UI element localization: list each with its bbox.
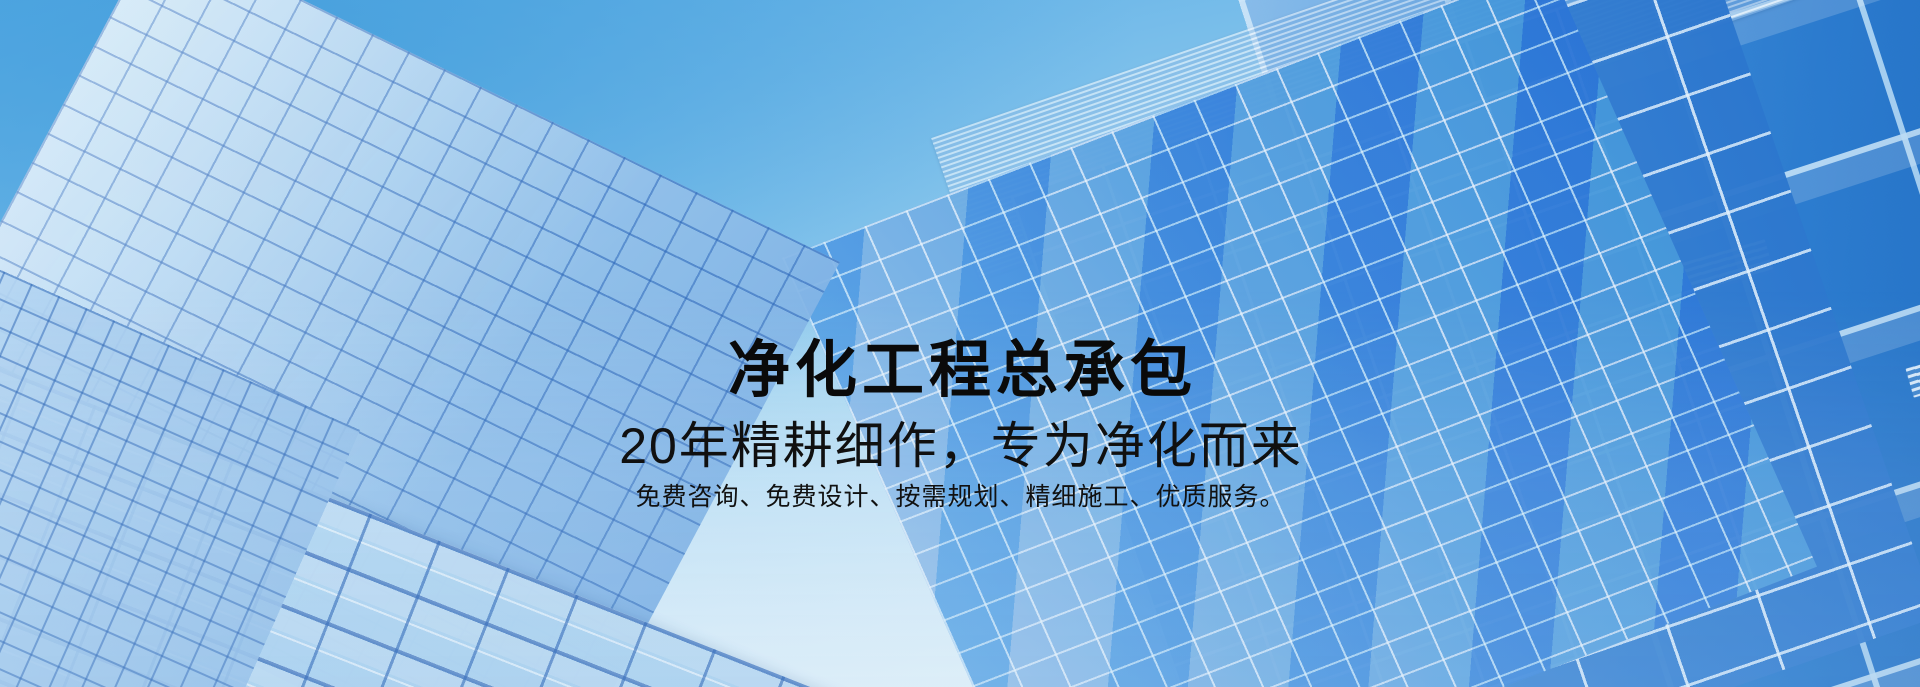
hero-banner: 净化工程总承包 20年精耕细作，专为净化而来 免费咨询、免费设计、按需规划、精细…: [0, 0, 1920, 687]
banner-copy-block: 净化工程总承包 20年精耕细作，专为净化而来 免费咨询、免费设计、按需规划、精细…: [0, 338, 1920, 512]
banner-subheadline: 20年精耕细作，专为净化而来: [0, 419, 1920, 474]
banner-tagline: 免费咨询、免费设计、按需规划、精细施工、优质服务。: [0, 482, 1920, 512]
banner-headline: 净化工程总承包: [0, 338, 1920, 405]
